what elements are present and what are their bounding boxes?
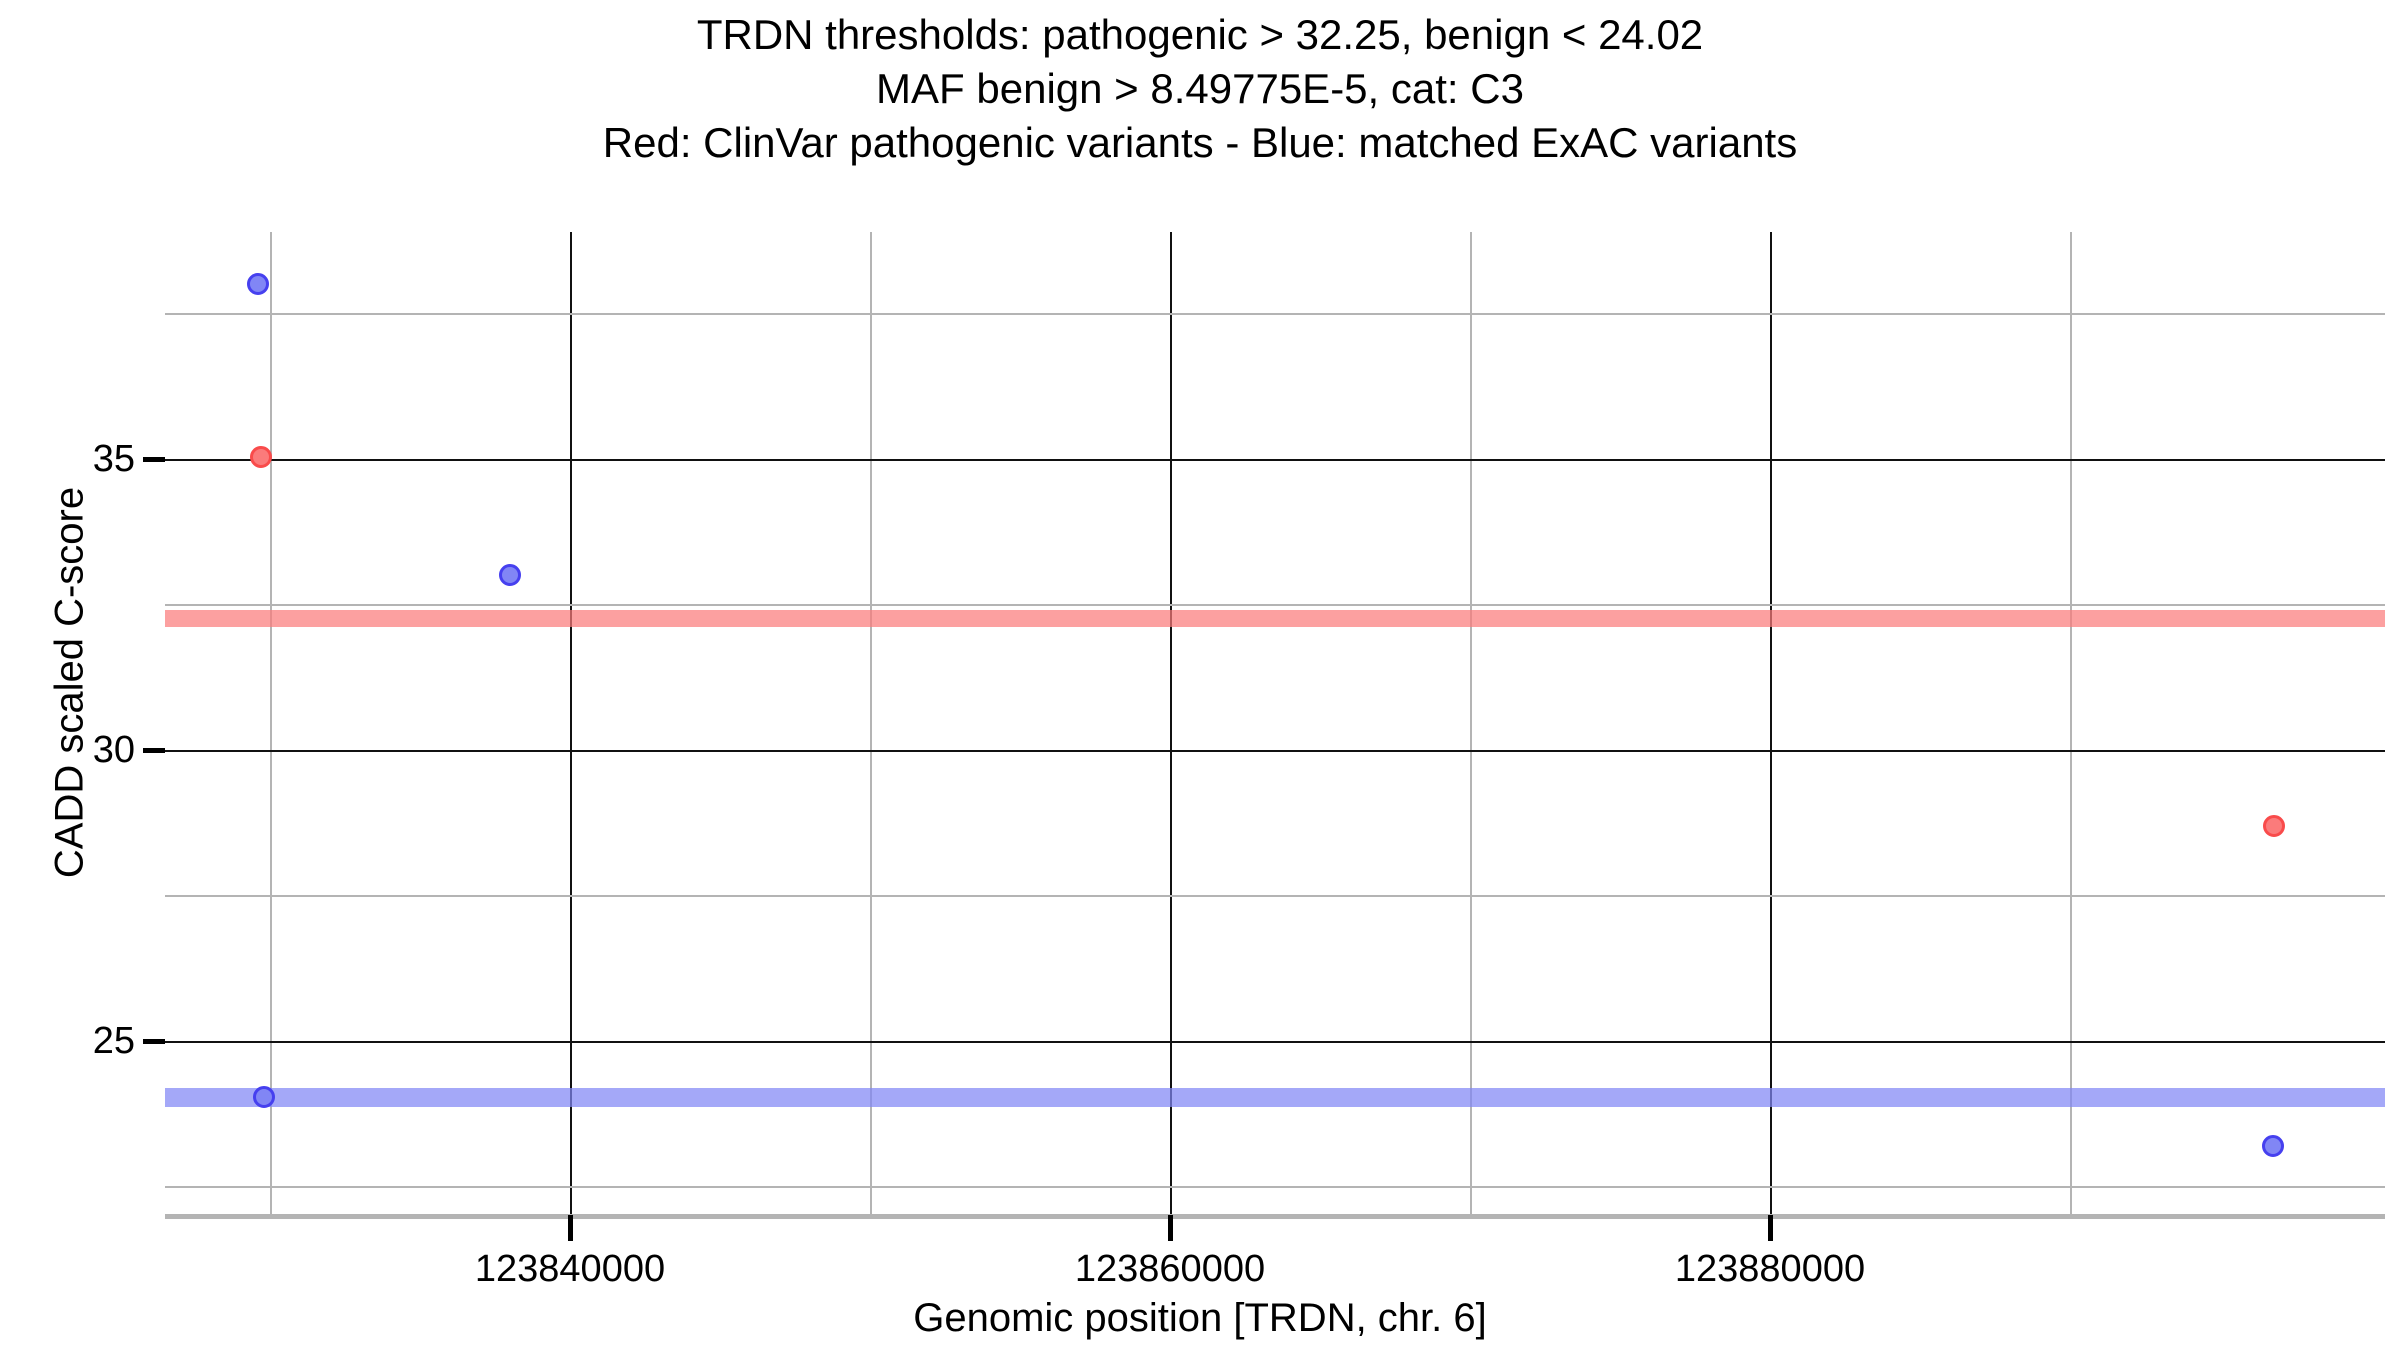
y-tick-mark: [143, 457, 165, 462]
x-tick-label: 123860000: [1075, 1248, 1265, 1290]
x-tick-label: 123880000: [1675, 1248, 1865, 1290]
pathogenic-threshold-band: [165, 610, 2385, 627]
x-gridline-major: [1170, 232, 1172, 1215]
x-tick-label: 123840000: [475, 1248, 665, 1290]
x-tick-mark: [568, 1215, 573, 1241]
y-tick-mark: [143, 1039, 165, 1044]
y-gridline-minor: [165, 604, 2385, 606]
y-gridline-minor: [165, 895, 2385, 897]
x-tick-mark: [1168, 1215, 1173, 1241]
data-point-red: [2263, 815, 2285, 837]
x-gridline-major: [1770, 232, 1772, 1215]
x-tick-mark: [1768, 1215, 1773, 1241]
chart-title: TRDN thresholds: pathogenic > 32.25, ben…: [0, 8, 2400, 170]
x-gridline-minor: [2070, 232, 2072, 1215]
chart-title-line-3: Red: ClinVar pathogenic variants - Blue:…: [0, 116, 2400, 170]
y-gridline-major: [165, 1041, 2385, 1043]
y-gridline-minor: [165, 1186, 2385, 1188]
benign-threshold-band: [165, 1088, 2385, 1107]
chart-title-line-1: TRDN thresholds: pathogenic > 32.25, ben…: [0, 8, 2400, 62]
y-gridline-minor: [165, 313, 2385, 315]
data-point-blue: [2262, 1135, 2284, 1157]
x-gridline-minor: [270, 232, 272, 1215]
y-gridline-major: [165, 459, 2385, 461]
y-axis-title: CADD scaled C-score: [48, 253, 93, 1113]
chart-title-line-2: MAF benign > 8.49775E-5, cat: C3: [0, 62, 2400, 116]
chart-canvas: TRDN thresholds: pathogenic > 32.25, ben…: [0, 0, 2400, 1350]
data-point-red: [250, 446, 272, 468]
x-axis-title: Genomic position [TRDN, chr. 6]: [0, 1296, 2400, 1341]
x-gridline-minor: [1470, 232, 1472, 1215]
x-gridline-major: [570, 232, 572, 1215]
data-point-blue: [247, 273, 269, 295]
plot-area: [165, 232, 2385, 1215]
x-gridline-minor: [870, 232, 872, 1215]
y-tick-mark: [143, 748, 165, 753]
x-axis-baseline: [165, 1214, 2385, 1219]
data-point-blue: [499, 564, 521, 586]
data-point-blue: [253, 1086, 275, 1108]
y-gridline-major: [165, 750, 2385, 752]
